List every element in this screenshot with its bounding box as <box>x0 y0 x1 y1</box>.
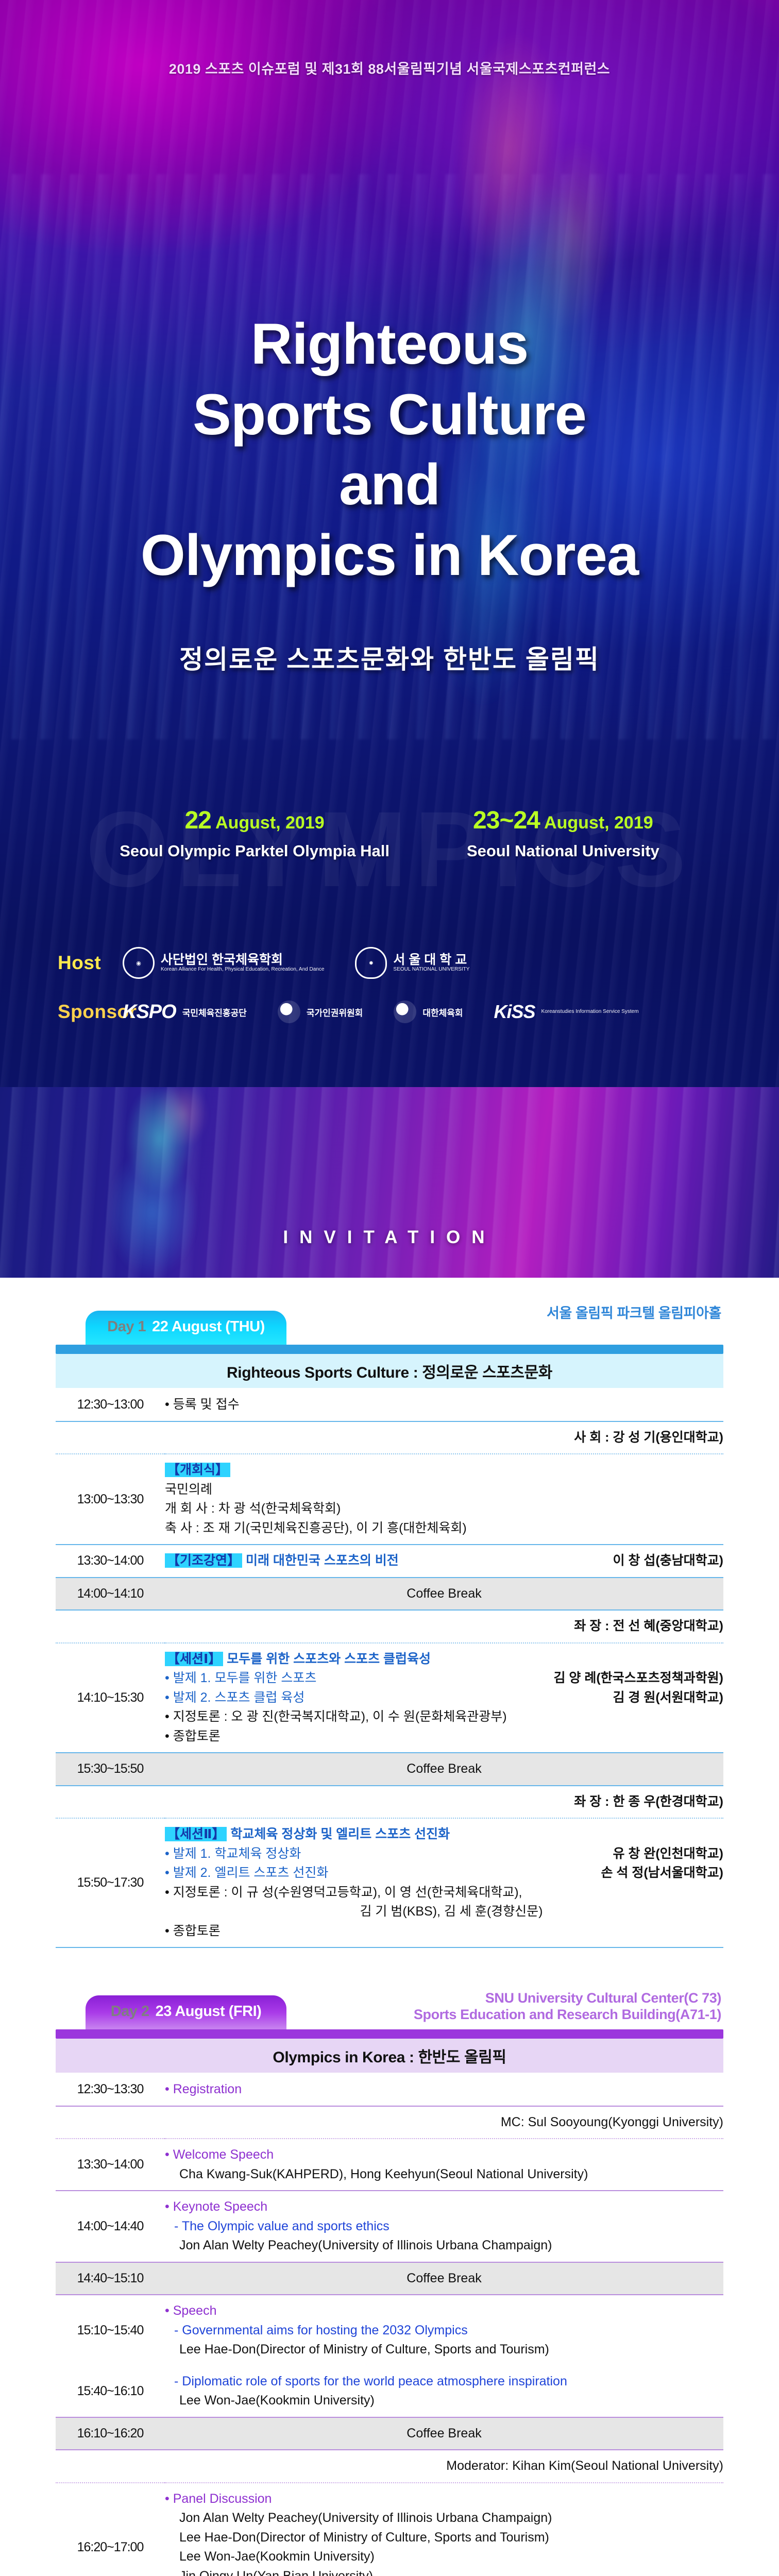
list-item: 축 사 : 조 재 기(국민체육진흥공단), 이 기 흥(대한체육회) <box>165 1519 723 1538</box>
venue-text-1: Seoul Olympic Parktel Olympia Hall <box>120 842 389 860</box>
list-item: - Governmental aims for hosting the 2032… <box>165 2321 723 2341</box>
list-item: Speech <box>165 2301 723 2321</box>
topic-speaker: 유 창 완(인천대학교) <box>613 1844 723 1864</box>
kiss-wordmark: KiSS <box>494 1001 535 1023</box>
table-row: 15:10~15:40 Speech - Governmental aims f… <box>56 2295 723 2366</box>
list-item: 국민의례 <box>165 1480 723 1500</box>
day2-time-6: 15:40~16:10 <box>56 2366 165 2417</box>
day2-time-8 <box>56 2450 165 2483</box>
day2-date: 23 August (FRI) <box>156 2003 262 2020</box>
table-row: 14:00~14:40 Keynote Speech - The Olympic… <box>56 2191 723 2262</box>
day1-band-title: Righteous Sports Culture : 정의로운 스포츠문화 <box>56 1354 723 1388</box>
opening-tag: 【개회식】 <box>165 1461 723 1480</box>
day2-body-9: Panel Discussion Jon Alan Welty Peachey(… <box>165 2483 723 2576</box>
session-topic-2: • 발제 2. 엘리트 스포츠 선진화 손 석 정(남서울대학교) <box>165 1863 723 1883</box>
topic-label: • 발제 2. 스포츠 클럽 육성 <box>165 1688 304 1708</box>
day1-time-3: 13:30~14:00 <box>56 1545 165 1578</box>
list-item: - Diplomatic role of sports for the worl… <box>165 2372 723 2392</box>
ksoc-name-korean: 대한체육회 <box>422 1006 463 1019</box>
day1-time-2: 13:00~13:30 <box>56 1454 165 1545</box>
day1-header: Day 1 22 August (THU) 서울 올림픽 파크텔 올림피아홀 <box>56 1307 723 1354</box>
day2-header: Day 2 23 August (FRI) SNU University Cul… <box>56 1991 723 2039</box>
host-row: Host ◉ 사단법인 한국체육학회 Korean Alliance For H… <box>58 947 721 979</box>
table-row: 15:50~17:30 【세션Ⅱ】 학교체육 정상화 및 엘리트 스포츠 선진화… <box>56 1818 723 1947</box>
day1-body-2: 【개회식】 국민의례 개 회 사 : 차 광 석(한국체육학회) 축 사 : 조… <box>165 1454 723 1545</box>
wave-icon <box>394 1001 416 1023</box>
snu-name-korean: 서 울 대 학 교 <box>393 953 469 967</box>
table-row: 13:30~14:00 Welcome Speech Cha Kwang-Suk… <box>56 2139 723 2191</box>
day2-tab: Day 2 23 August (FRI) <box>86 1995 286 2029</box>
day1-tab: Day 1 22 August (THU) <box>86 1311 286 1345</box>
keynote-line: 【기조강연】 미래 대한민국 스포츠의 비전 이 창 섭(충남대학교) <box>165 1551 723 1571</box>
kiss-name-english: Koreanstudies Information Service System <box>541 1009 639 1015</box>
day1-body-3: 【기조강연】 미래 대한민국 스포츠의 비전 이 창 섭(충남대학교) <box>165 1545 723 1578</box>
logo-kahperd: ◉ 사단법인 한국체육학회 Korean Alliance For Health… <box>123 947 324 979</box>
list-item: - The Olympic value and sports ethics <box>165 2217 723 2236</box>
topic-label: • 발제 1. 모두를 위한 스포츠 <box>165 1669 316 1688</box>
hand-icon <box>278 1001 300 1023</box>
session-topic-1: • 발제 1. 학교체육 정상화 유 창 완(인천대학교) <box>165 1844 723 1864</box>
nhrck-name-korean: 국가인권위원회 <box>307 1006 363 1019</box>
day1-coffee-4: Coffee Break <box>165 1578 723 1611</box>
day2-color-bar <box>56 2029 723 2039</box>
day2-time-9: 16:20~17:00 <box>56 2483 165 2576</box>
logo-nhrck: 국가인권위원회 <box>278 1001 363 1023</box>
day1-date: 22 August (THU) <box>152 1318 265 1335</box>
day1-time-7: 15:30~15:50 <box>56 1753 165 1786</box>
kahperd-name-korean: 사단법인 한국체육학회 <box>161 953 324 967</box>
list-item: Welcome Speech <box>165 2145 723 2165</box>
list-item: Registration <box>165 2082 242 2096</box>
day2-schedule-table: 12:30~13:30 Registration MC: Sul Sooyoun… <box>56 2074 723 2576</box>
invitation-band: INVITATION <box>0 1087 779 1278</box>
title-line-3: and <box>0 450 779 520</box>
date-text-2: 23~24 August, 2019 <box>467 806 659 835</box>
snu-crest-icon: ✹ <box>355 947 387 979</box>
poster-main-title: Righteous Sports Culture and Olympics in… <box>0 309 779 591</box>
date-entry-1: 22 August, 2019 Seoul Olympic Parktel Ol… <box>120 806 389 860</box>
day1-time-5 <box>56 1610 165 1643</box>
date-entry-2: 23~24 August, 2019 Seoul National Univer… <box>467 806 659 860</box>
table-row: 15:40~16:10 - Diplomatic role of sports … <box>56 2366 723 2417</box>
day1-body-6: 【세션Ⅰ】 모두를 위한 스포츠와 스포츠 클럽육성 • 발제 1. 모두를 위… <box>165 1643 723 1753</box>
host-logo-list: ◉ 사단법인 한국체육학회 Korean Alliance For Health… <box>123 947 469 979</box>
sponsor-logo-list: KSPO 국민체육진흥공단 국가인권위원회 대한체육회 KiSS Koreans… <box>123 1001 639 1023</box>
list-item: • 종합토론 <box>165 1727 723 1747</box>
day1-time-0: 12:30~13:00 <box>56 1389 165 1421</box>
table-row: 13:30~14:00 【기조강연】 미래 대한민국 스포츠의 비전 이 창 섭… <box>56 1545 723 1578</box>
logo-snu: ✹ 서 울 대 학 교 SEOUL NATIONAL UNIVERSITY <box>355 947 469 979</box>
sponsor-label: Sponsor <box>58 1001 123 1023</box>
table-row: 16:10~16:20 Coffee Break <box>56 2417 723 2450</box>
list-item: Jon Alan Welty Peachey(University of Ill… <box>165 2509 723 2528</box>
session-heading: 【세션Ⅰ】 모두를 위한 스포츠와 스포츠 클럽육성 <box>165 1650 723 1669</box>
table-row: 좌 장 : 한 종 우(한경대학교) <box>56 1786 723 1819</box>
list-item: 김 기 범(KBS), 김 세 훈(경향신문) <box>165 1902 723 1922</box>
title-line-4: Olympics in Korea <box>0 520 779 591</box>
day2-time-4: 14:40~15:10 <box>56 2262 165 2295</box>
list-item: • 지정토론 : 오 광 진(한국복지대학교), 이 수 원(문화체육관광부) <box>165 1707 723 1727</box>
table-row: 16:20~17:00 Panel Discussion Jon Alan We… <box>56 2483 723 2576</box>
keynote-speaker: 이 창 섭(충남대학교) <box>613 1551 723 1571</box>
day2-body-0: Registration <box>165 2074 723 2106</box>
list-item: Panel Discussion <box>165 2489 723 2509</box>
day2-time-2: 13:30~14:00 <box>56 2139 165 2191</box>
day2-coffee-7: Coffee Break <box>165 2417 723 2450</box>
day2-mc-1: MC: Sul Sooyoung(Kyonggi University) <box>165 2106 723 2139</box>
poster-dates-block: 22 August, 2019 Seoul Olympic Parktel Ol… <box>0 806 779 860</box>
table-row: 14:40~15:10 Coffee Break <box>56 2262 723 2295</box>
day1-schedule-table: 12:30~13:00 등록 및 접수 사 회 : 강 성 기(용인대학교) 1… <box>56 1389 723 1960</box>
day2-venue-line1: SNU University Cultural Center(C 73) <box>414 1990 721 2007</box>
topic-speaker: 김 경 원(서원대학교) <box>613 1688 723 1708</box>
day2-band-title: Olympics in Korea : 한반도 올림픽 <box>56 2039 723 2073</box>
logo-ksoc: 대한체육회 <box>394 1001 463 1023</box>
day1-number: Day 1 <box>107 1318 146 1335</box>
logo-kiss: KiSS Koreanstudies Information Service S… <box>494 1001 639 1023</box>
table-row: 12:30~13:30 Registration <box>56 2074 723 2106</box>
session-topic-2: • 발제 2. 스포츠 클럽 육성 김 경 원(서원대학교) <box>165 1688 723 1708</box>
table-row <box>56 1947 723 1960</box>
keynote-title: 【기조강연】 미래 대한민국 스포츠의 비전 <box>165 1551 399 1571</box>
date-month-2: August, 2019 <box>540 813 653 833</box>
day1-time-4: 14:00~14:10 <box>56 1578 165 1611</box>
table-row: 좌 장 : 전 선 혜(중앙대학교) <box>56 1610 723 1643</box>
day2-number: Day 2 <box>111 2003 149 2020</box>
day1-time-8 <box>56 1786 165 1819</box>
venue-text-2: Seoul National University <box>467 842 659 860</box>
table-row: 14:00~14:10 Coffee Break <box>56 1578 723 1611</box>
day2-venue-line2: Sports Education and Research Building(A… <box>414 2007 721 2023</box>
table-row: 15:30~15:50 Coffee Break <box>56 1753 723 1786</box>
day1-time-1 <box>56 1421 165 1454</box>
day2-time-1 <box>56 2106 165 2139</box>
table-row: 14:10~15:30 【세션Ⅰ】 모두를 위한 스포츠와 스포츠 클럽육성 •… <box>56 1643 723 1753</box>
title-line-1: Righteous <box>0 309 779 380</box>
day2-body-3: Keynote Speech - The Olympic value and s… <box>165 2191 723 2262</box>
date-day-2: 23~24 <box>473 807 540 834</box>
list-item: Lee Hae-Don(Director of Ministry of Cult… <box>165 2340 723 2360</box>
day2-venue: SNU University Cultural Center(C 73) Spo… <box>414 1990 721 2023</box>
day2-time-0: 12:30~13:30 <box>56 2074 165 2106</box>
table-row: 12:30~13:00 등록 및 접수 <box>56 1389 723 1421</box>
list-item: Lee Hae-Don(Director of Ministry of Cult… <box>165 2528 723 2548</box>
schedule-section: Day 1 22 August (THU) 서울 올림픽 파크텔 올림피아홀 R… <box>0 1278 779 2576</box>
topic-speaker: 김 양 례(한국스포츠정책과학원) <box>553 1669 723 1688</box>
day2-block: Day 2 23 August (FRI) SNU University Cul… <box>56 1991 723 2576</box>
poster-hero: OLYMPICS 2019 스포츠 이슈포럼 및 제31회 88서울림픽기념 서… <box>0 0 779 1087</box>
poster-subtitle-korean: 정의로운 스포츠문화와 한반도 올림픽 <box>0 639 779 676</box>
kahperd-name-english: Korean Alliance For Health, Physical Edu… <box>161 967 324 973</box>
list-item: Lee Won-Jae(Kookmin University) <box>165 2547 723 2567</box>
day2-time-3: 14:00~14:40 <box>56 2191 165 2262</box>
day1-block: Day 1 22 August (THU) 서울 올림픽 파크텔 올림피아홀 R… <box>56 1307 723 1960</box>
topic-label: • 발제 1. 학교체육 정상화 <box>165 1844 301 1864</box>
day1-time-6: 14:10~15:30 <box>56 1643 165 1753</box>
day1-chair-5: 좌 장 : 전 선 혜(중앙대학교) <box>165 1610 723 1643</box>
session-topic-1: • 발제 1. 모두를 위한 스포츠 김 양 례(한국스포츠정책과학원) <box>165 1669 723 1688</box>
kspo-wordmark: KSPO <box>123 1001 176 1023</box>
host-label: Host <box>58 952 123 974</box>
day1-body-0: 등록 및 접수 <box>165 1389 723 1421</box>
day2-time-7: 16:10~16:20 <box>56 2417 165 2450</box>
table-row: 사 회 : 강 성 기(용인대학교) <box>56 1421 723 1454</box>
topic-label: • 발제 2. 엘리트 스포츠 선진화 <box>165 1863 328 1883</box>
title-line-2: Sports Culture <box>0 380 779 450</box>
list-item: Keynote Speech <box>165 2197 723 2217</box>
table-row: 13:00~13:30 【개회식】 국민의례 개 회 사 : 차 광 석(한국체… <box>56 1454 723 1545</box>
day2-body-6: - Diplomatic role of sports for the worl… <box>165 2366 723 2417</box>
snu-name-english: SEOUL NATIONAL UNIVERSITY <box>393 967 469 973</box>
day2-moderator-8: Moderator: Kihan Kim(Seoul National Univ… <box>165 2450 723 2483</box>
list-item: Jon Alan Welty Peachey(University of Ill… <box>165 2236 723 2256</box>
list-item: Cha Kwang-Suk(KAHPERD), Hong Keehyun(Seo… <box>165 2165 723 2184</box>
day2-tab-wrap: Day 2 23 August (FRI) SNU University Cul… <box>56 1991 723 2029</box>
table-row: Moderator: Kihan Kim(Seoul National Univ… <box>56 2450 723 2483</box>
day1-body-9: 【세션Ⅱ】 학교체육 정상화 및 엘리트 스포츠 선진화 • 발제 1. 학교체… <box>165 1818 723 1947</box>
day2-body-2: Welcome Speech Cha Kwang-Suk(KAHPERD), H… <box>165 2139 723 2191</box>
day1-tab-wrap: Day 1 22 August (THU) 서울 올림픽 파크텔 올림피아홀 <box>56 1307 723 1345</box>
list-item: Jin Qingy Un(Yan Bian University) <box>165 2567 723 2576</box>
session-heading: 【세션Ⅱ】 학교체육 정상화 및 엘리트 스포츠 선진화 <box>165 1825 723 1844</box>
invitation-figure-image <box>67 1087 252 1278</box>
date-text-1: 22 August, 2019 <box>120 806 389 835</box>
logo-kspo: KSPO 국민체육진흥공단 <box>123 1001 247 1023</box>
conference-header-korean: 2019 스포츠 이슈포럼 및 제31회 88서울림픽기념 서울국제스포츠컨퍼런… <box>0 58 779 78</box>
kspo-name-korean: 국민체육진흥공단 <box>182 1006 247 1019</box>
topic-speaker: 손 석 정(남서울대학교) <box>601 1863 723 1883</box>
day2-time-5: 15:10~15:40 <box>56 2295 165 2366</box>
day2-body-5: Speech - Governmental aims for hosting t… <box>165 2295 723 2366</box>
date-day-1: 22 <box>184 807 211 834</box>
kahperd-seal-icon: ◉ <box>123 947 155 979</box>
invitation-label: INVITATION <box>0 1227 779 1248</box>
day1-coffee-7: Coffee Break <box>165 1753 723 1786</box>
list-item: • 지정토론 : 이 규 성(수원영덕고등학교), 이 영 선(한국체육대학교)… <box>165 1883 723 1903</box>
list-item: • 종합토론 <box>165 1922 723 1941</box>
day1-time-9: 15:50~17:30 <box>56 1818 165 1947</box>
list-item: Lee Won-Jae(Kookmin University) <box>165 2391 723 2411</box>
day1-venue: 서울 올림픽 파크텔 올림피아홀 <box>547 1306 721 1322</box>
organizations-block: Host ◉ 사단법인 한국체육학회 Korean Alliance For H… <box>58 947 721 1045</box>
day1-chair-8: 좌 장 : 한 종 우(한경대학교) <box>165 1786 723 1819</box>
day1-chair-1: 사 회 : 강 성 기(용인대학교) <box>165 1421 723 1454</box>
list-item: 등록 및 접수 <box>165 1395 723 1415</box>
date-month-1: August, 2019 <box>211 813 325 833</box>
day1-color-bar <box>56 1345 723 1354</box>
table-row: MC: Sul Sooyoung(Kyonggi University) <box>56 2106 723 2139</box>
sponsor-row: Sponsor KSPO 국민체육진흥공단 국가인권위원회 대한체육회 KiSS… <box>58 1001 721 1023</box>
list-item: 개 회 사 : 차 광 석(한국체육학회) <box>165 1499 723 1519</box>
day2-coffee-4: Coffee Break <box>165 2262 723 2295</box>
